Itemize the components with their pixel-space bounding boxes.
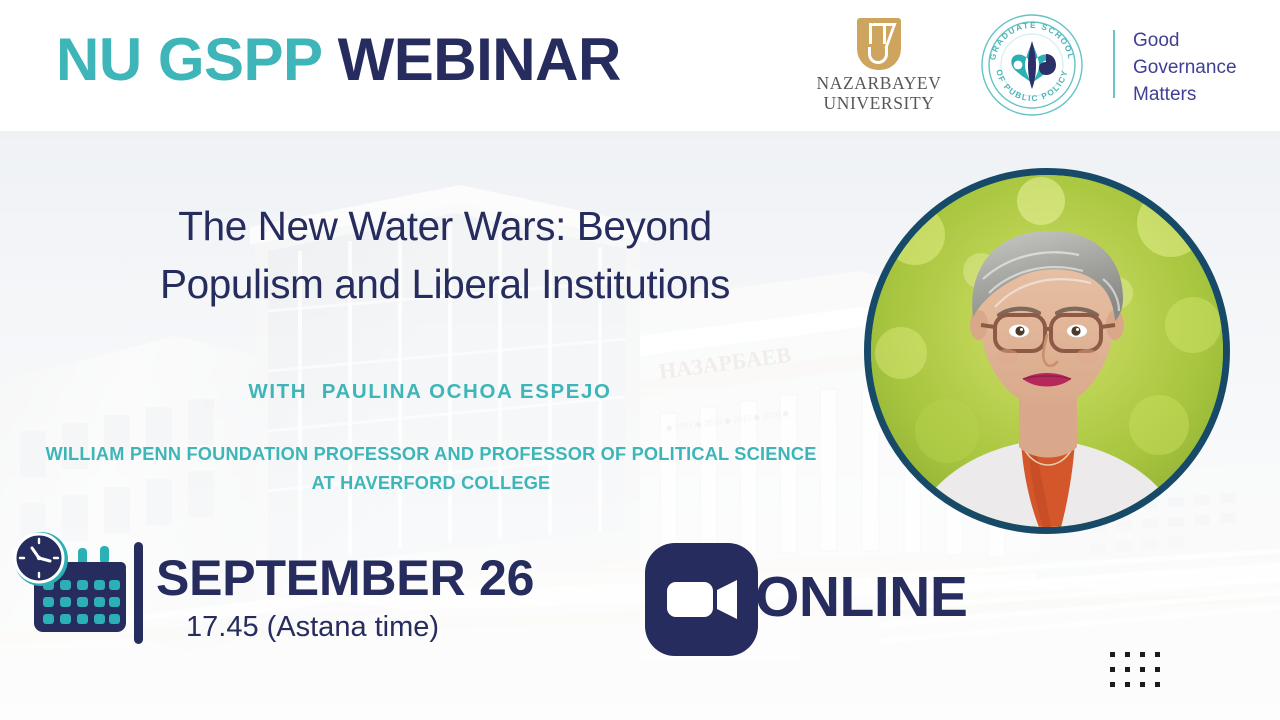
speaker-affiliation-line1: WILLIAM PENN FOUNDATION PROFESSOR AND PR… <box>45 444 816 464</box>
nu-logo-line2: UNIVERSITY <box>805 94 953 114</box>
event-time: 17.45 (Astana time) <box>186 611 439 644</box>
nazarbayev-shield-icon <box>857 18 901 70</box>
avatar <box>864 168 1230 534</box>
page-title-accent: NU GSPP <box>56 26 321 93</box>
tagline-divider <box>1113 30 1115 98</box>
dot-grid-decoration <box>1110 652 1162 689</box>
page-title-main: WEBINAR <box>338 26 621 93</box>
nazarbayev-university-logo: NAZARBAYEV UNIVERSITY <box>805 18 953 114</box>
mode-label: ONLINE <box>755 564 967 630</box>
talk-title-line2: Populism and Liberal Institutions <box>0 255 890 313</box>
video-camera-icon <box>645 543 758 656</box>
tagline: GoodGovernanceMatters <box>1133 28 1237 109</box>
speaker-name: WITH PAULINA OCHOA ESPEJO <box>0 380 860 404</box>
calendar-clock-icon <box>8 528 156 652</box>
gspp-seal-icon: GRADUATE SCHOOL OF PUBLIC POLICY <box>980 13 1084 117</box>
webinar-poster: НАЗАРБАЕВ УНИВЕРСИТЕТ ◆ 1991 ◆ 2010 ◆ 20… <box>0 0 1280 720</box>
nu-logo-line1: NAZARBAYEV <box>805 74 953 94</box>
talk-title: The New Water Wars: Beyond Populism and … <box>0 197 890 314</box>
page-title: NU GSPP WEBINAR <box>56 30 621 90</box>
header-band: NU GSPP WEBINAR NAZARBAYEV UNIVERSITY <box>0 0 1280 131</box>
speaker-affiliation: WILLIAM PENN FOUNDATION PROFESSOR AND PR… <box>0 440 862 498</box>
speaker-affiliation-line2: AT HAVERFORD COLLEGE <box>312 473 551 493</box>
event-date: SEPTEMBER 26 <box>156 549 534 607</box>
talk-title-line1: The New Water Wars: Beyond <box>178 203 712 249</box>
